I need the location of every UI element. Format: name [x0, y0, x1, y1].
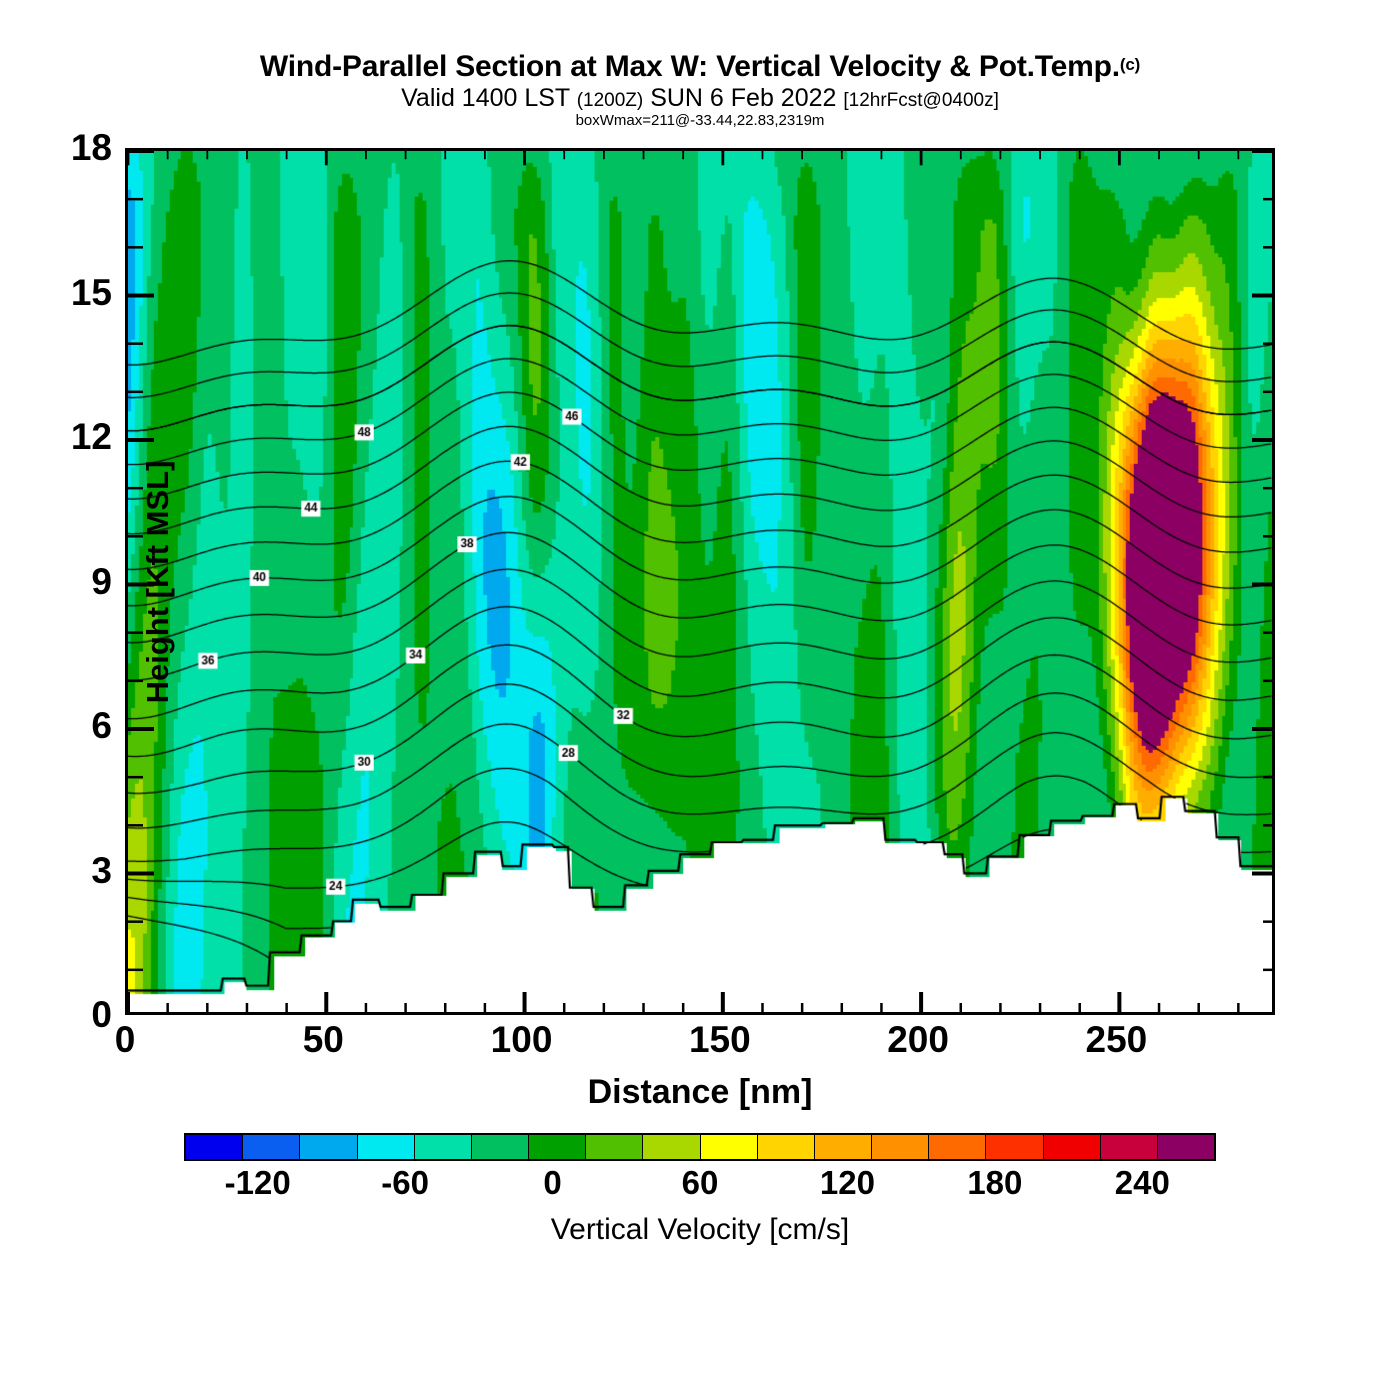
colorbar-band-7	[586, 1135, 643, 1159]
subtitle-boxwmax: boxWmax=211@-33.44,22.83,2319m	[0, 112, 1400, 129]
x-tick-250: 250	[1086, 1019, 1148, 1061]
y-tick-12: 12	[71, 416, 112, 458]
colorbar-title: Vertical Velocity [cm/s]	[0, 1213, 1400, 1247]
colorbar-band-5	[472, 1135, 529, 1159]
colorbar-band-4	[415, 1135, 472, 1159]
colorbar-tick-60: 60	[682, 1164, 719, 1202]
figure-subtitle: Valid 1400 LST (1200Z) SUN 6 Feb 2022 [1…	[0, 84, 1400, 113]
copyright-mark: (c)	[1120, 55, 1140, 74]
y-tick-9: 9	[91, 561, 112, 603]
subtitle-date: SUN 6 Feb 2022	[650, 84, 836, 112]
colorbar-tick-120: 120	[820, 1164, 875, 1202]
x-tick-100: 100	[491, 1019, 553, 1061]
colorbar-tick-180: 180	[967, 1164, 1022, 1202]
colorbar-band-1	[243, 1135, 300, 1159]
x-tick-200: 200	[887, 1019, 949, 1061]
colorbar	[184, 1133, 1216, 1161]
figure-title-text: Wind-Parallel Section at Max W: Vertical…	[260, 50, 1120, 83]
colorbar-band-2	[300, 1135, 357, 1159]
x-tick-150: 150	[689, 1019, 751, 1061]
colorbar-band-9	[701, 1135, 758, 1159]
colorbar-band-12	[872, 1135, 929, 1159]
y-tick-0: 0	[91, 994, 112, 1036]
x-axis-title: Distance [nm]	[0, 1073, 1400, 1112]
colorbar-band-14	[986, 1135, 1043, 1159]
colorbar-band-15	[1044, 1135, 1101, 1159]
colorbar-band-16	[1101, 1135, 1158, 1159]
subtitle-zulu: (1200Z)	[577, 90, 644, 111]
colorbar-band-17	[1158, 1135, 1214, 1159]
y-axis-title: Height [Kft MSL]	[140, 372, 176, 792]
colorbar-band-11	[815, 1135, 872, 1159]
colorbar-tick-0: 0	[543, 1164, 561, 1202]
figure-canvas: Wind-Parallel Section at Max W: Vertical…	[0, 0, 1400, 1400]
y-tick-18: 18	[71, 127, 112, 169]
colorbar-band-3	[358, 1135, 415, 1159]
x-tick-0: 0	[115, 1019, 136, 1061]
y-tick-15: 15	[71, 272, 112, 314]
colorbar-band-10	[758, 1135, 815, 1159]
colorbar-tick--120: -120	[225, 1164, 291, 1202]
colorbar-band-6	[529, 1135, 586, 1159]
subtitle-valid: Valid 1400 LST	[401, 84, 570, 112]
y-tick-3: 3	[91, 850, 112, 892]
plot-clip	[128, 151, 1272, 1012]
colorbar-band-13	[929, 1135, 986, 1159]
subtitle-forecast: [12hrFcst@0400z]	[843, 90, 999, 111]
figure-title: Wind-Parallel Section at Max W: Vertical…	[0, 50, 1400, 84]
x-tick-50: 50	[303, 1019, 344, 1061]
vertical-velocity-contour-field	[128, 151, 1272, 1012]
colorbar-bands	[184, 1133, 1216, 1161]
plot-area: Height [Kft MSL]	[125, 148, 1275, 1015]
colorbar-band-8	[643, 1135, 700, 1159]
colorbar-tick--60: -60	[381, 1164, 429, 1202]
colorbar-band-0	[186, 1135, 243, 1159]
colorbar-tick-240: 240	[1115, 1164, 1170, 1202]
y-tick-6: 6	[91, 705, 112, 747]
